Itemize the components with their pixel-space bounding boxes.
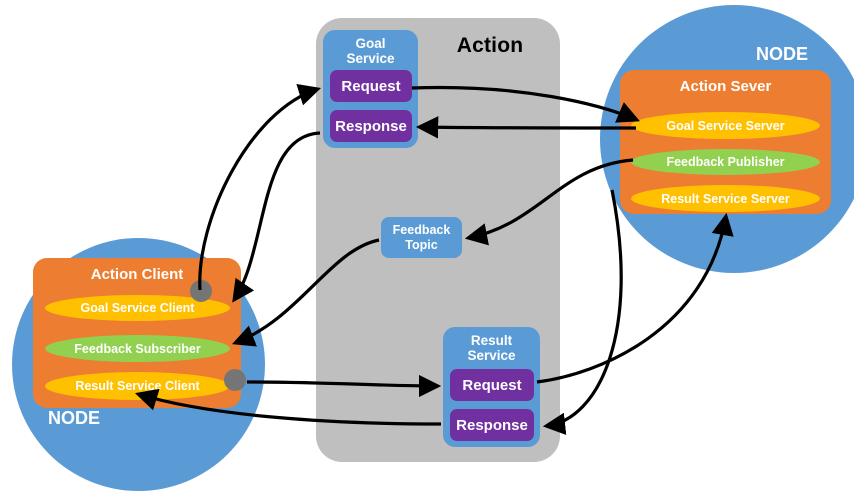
- server-node-label: NODE: [756, 44, 808, 65]
- action-panel-label: Action: [430, 34, 550, 58]
- feedback-subscriber[interactable]: Feedback Subscriber: [45, 335, 230, 362]
- result-service-response[interactable]: Response: [450, 409, 534, 441]
- result-service-request[interactable]: Request: [450, 369, 534, 401]
- result-service-title: Result Service: [443, 333, 540, 363]
- diagram-canvas: Action NODE NODE Action Client Goal Serv…: [0, 0, 854, 480]
- result-service-title-line1: Result: [443, 333, 540, 348]
- result-client-connector-dot: [224, 369, 246, 391]
- action-client-title: Action Client: [33, 266, 241, 283]
- action-client-box: Action Client Goal Service Client Feedba…: [33, 258, 241, 408]
- goal-service-response[interactable]: Response: [330, 110, 412, 142]
- action-server-box: Action Sever Goal Service Server Feedbac…: [620, 70, 831, 214]
- client-node-label: NODE: [48, 408, 100, 429]
- result-service-client[interactable]: Result Service Client: [45, 372, 230, 400]
- arrow-goal-response-to-client: [234, 133, 320, 300]
- result-service-box: Result Service Request Response: [443, 327, 540, 447]
- goal-service-request[interactable]: Request: [330, 70, 412, 102]
- result-service-server[interactable]: Result Service Server: [631, 185, 820, 212]
- goal-service-title-line2: Service: [323, 51, 418, 66]
- goal-service-server[interactable]: Goal Service Server: [631, 112, 820, 139]
- feedback-publisher[interactable]: Feedback Publisher: [631, 149, 820, 175]
- feedback-topic-line1: Feedback: [393, 223, 451, 238]
- goal-client-connector-dot: [190, 280, 212, 302]
- action-server-title: Action Sever: [620, 78, 831, 95]
- feedback-topic[interactable]: Feedback Topic: [381, 217, 462, 258]
- feedback-topic-line2: Topic: [393, 238, 451, 253]
- goal-service-box: Goal Service Request Response: [323, 30, 418, 148]
- goal-service-title: Goal Service: [323, 36, 418, 66]
- result-service-title-line2: Service: [443, 348, 540, 363]
- goal-service-title-line1: Goal: [323, 36, 418, 51]
